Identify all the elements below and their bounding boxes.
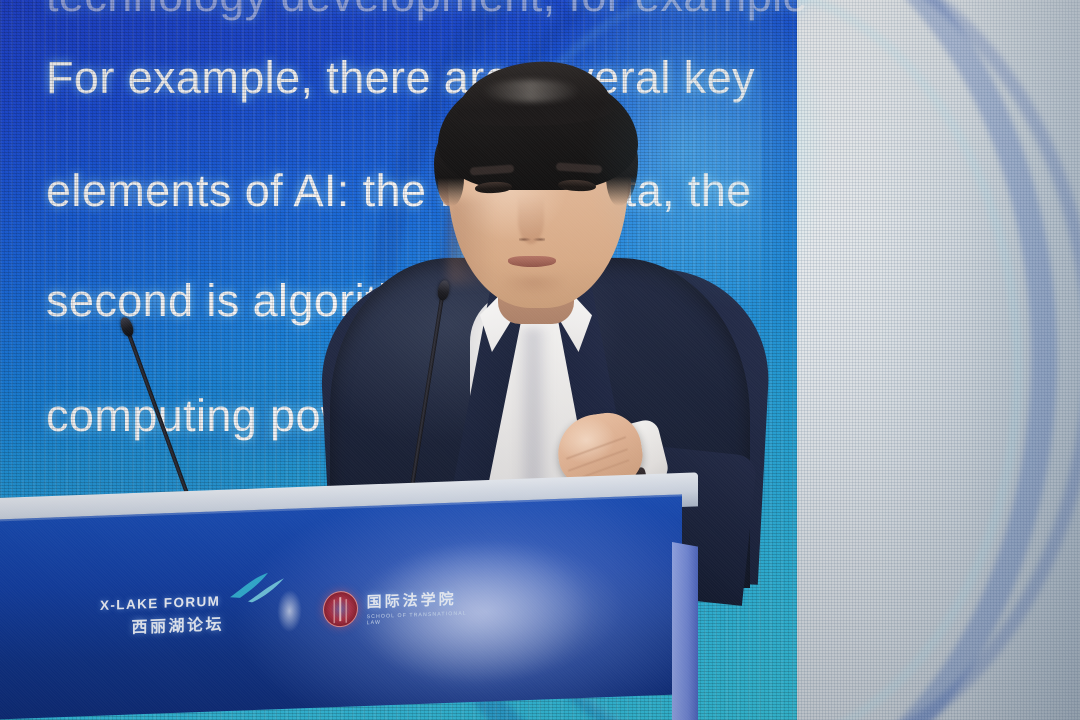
podium: X-LAKE FORUM 西丽湖论坛 国际法学院 SCHOOL OF TRANS…	[0, 498, 712, 720]
university-seal-icon	[323, 591, 358, 628]
logo-stl-english: SCHOOL OF TRANSNATIONAL LAW	[367, 610, 480, 626]
cheek-shading	[448, 198, 494, 284]
logo-school-of-transnational-law: 国际法学院 SCHOOL OF TRANSNATIONAL LAW	[323, 586, 480, 628]
logo-stl-chinese: 国际法学院	[367, 587, 480, 612]
hair-highlight	[482, 80, 580, 102]
bird-swoosh-icon	[228, 569, 286, 605]
podium-side-panel	[672, 542, 698, 720]
finger-detail	[563, 426, 631, 482]
mouth	[508, 256, 556, 267]
nostrils	[519, 236, 545, 243]
conference-photo-scene: technology development, for example For …	[0, 0, 1080, 720]
logo-stl-text: 国际法学院 SCHOOL OF TRANSNATIONAL LAW	[367, 587, 480, 626]
podium-logo-group: X-LAKE FORUM 西丽湖论坛 国际法学院 SCHOOL OF TRANS…	[100, 569, 480, 653]
chin-shading	[488, 276, 580, 308]
logo-x-lake-forum: X-LAKE FORUM 西丽湖论坛	[100, 592, 256, 639]
logo-xlake-chinese: 西丽湖论坛	[100, 609, 256, 639]
